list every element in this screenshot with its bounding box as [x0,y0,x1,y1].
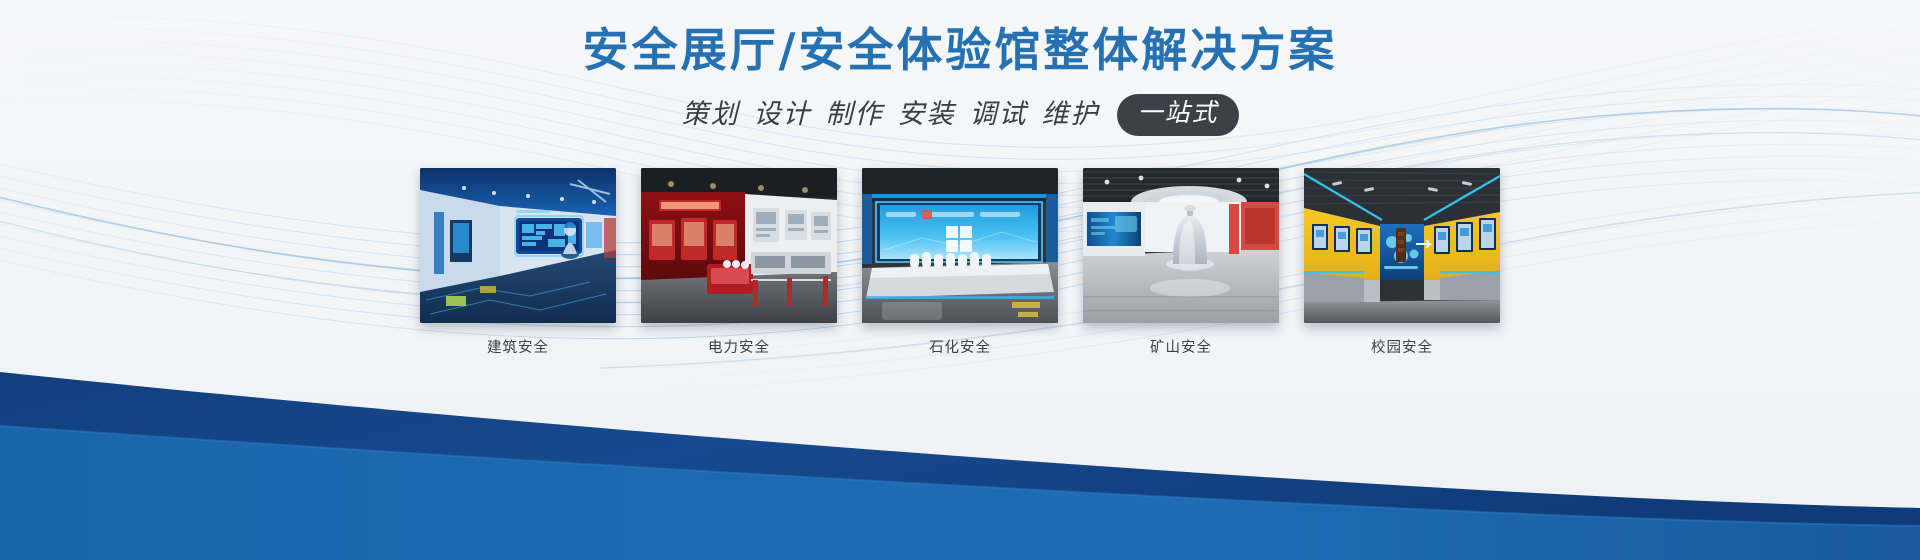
card-caption-petrochemical: 石化安全 [862,336,1058,357]
solution-card-power[interactable]: 电力安全 [641,168,837,357]
card-caption-construction: 建筑安全 [420,336,616,357]
card-caption-mining: 矿山安全 [1083,336,1279,357]
solution-card-campus[interactable]: 校园安全 [1304,168,1500,357]
solution-card-petrochemical[interactable]: 石化安全 [862,168,1058,357]
thumbnail-petrochemical-safety[interactable] [862,168,1058,323]
safety-exhibition-banner: 安全展厅/安全体验馆整体解决方案 策划 设计 制作 安装 调试 维护 一站式 [0,0,1920,560]
banner-text-block: 安全展厅/安全体验馆整体解决方案 策划 设计 制作 安装 调试 维护 一站式 [0,0,1920,136]
service-step-installation: 安装 [897,98,955,132]
power-hall-illustration [641,168,837,323]
solution-card-mining[interactable]: 矿山安全 [1083,168,1279,357]
bottom-blue-ribbons [0,330,1920,560]
service-step-planning: 策划 [681,98,739,132]
card-caption-power: 电力安全 [641,336,837,357]
mining-hall-illustration [1083,168,1279,323]
construction-hall-illustration [420,168,616,323]
thumbnail-campus-safety[interactable] [1304,168,1500,323]
thumbnail-construction-safety[interactable] [420,168,616,323]
service-step-maintenance: 维护 [1041,98,1099,132]
card-caption-campus: 校园安全 [1304,336,1500,357]
thumbnail-power-safety[interactable] [641,168,837,323]
service-step-production: 制作 [825,98,883,132]
one-stop-badge: 一站式 [1117,94,1238,136]
campus-hall-illustration [1304,168,1500,323]
thumbnail-mining-safety[interactable] [1083,168,1279,323]
petrochemical-hall-illustration [862,168,1058,323]
service-step-commissioning: 调试 [969,98,1027,132]
service-steps-line: 策划 设计 制作 安装 调试 维护 一站式 [0,78,1920,136]
solution-card-construction[interactable]: 建筑安全 [420,168,616,357]
service-step-design: 设计 [753,98,811,132]
solution-card-list: 建筑安全 [420,168,1500,357]
page-title: 安全展厅/安全体验馆整体解决方案 [0,0,1920,78]
